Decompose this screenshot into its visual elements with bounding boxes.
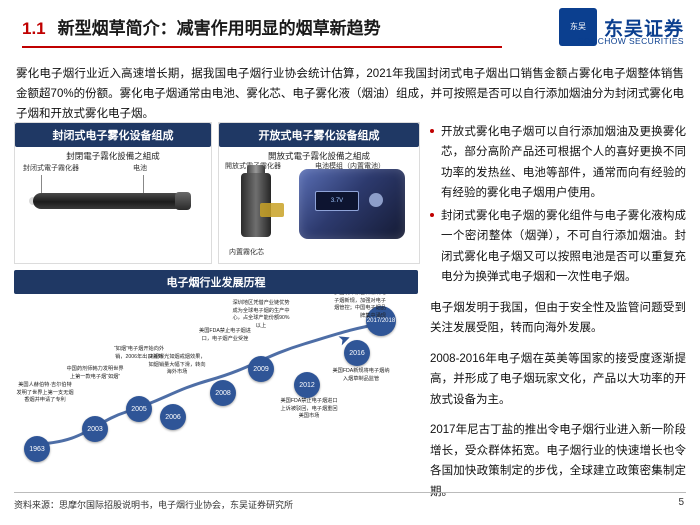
- title-row: 1.1 新型烟草简介：减害作用明显的烟草新趋势: [22, 14, 381, 39]
- timeline-note-8: 多国发布禁售和限制电子烟新规，加强对电子烟管控；中国电子烟品牌集中涌现: [332, 294, 386, 320]
- timeline-note-0: 美国人赫伯特·吉尔伯特发明了世界上第一支无烟香烟并申请了专利: [16, 382, 74, 405]
- open-device-coil-icon: [260, 203, 284, 217]
- closed-system-subtitle: 封閉電子霧化設備之組成: [15, 150, 211, 162]
- timeline-node-1: 2003: [82, 416, 108, 442]
- timeline-note-4: 美国FDA禁止电子烟进口，电子烟产业受挫: [196, 328, 254, 343]
- list-item: 开放式雾化电子烟可以自行添加烟油及更换雾化芯，部分高阶产品还可根据个人的喜好更换…: [430, 122, 686, 204]
- footer-divider: [14, 492, 686, 493]
- right-paragraph-1: 电子烟发明于我国，但由于安全性及监管问题受到关注发展受阻，转而向海外发展。: [430, 298, 686, 339]
- open-device-box-mod: 3.7V: [299, 169, 405, 239]
- open-device-fire-button: [369, 193, 383, 207]
- title-underline: [22, 46, 502, 48]
- right-paragraph-2: 2008-2016年电子烟在英美等国家的接受度逐渐提高，并形成了电子烟玩家文化，…: [430, 349, 686, 410]
- timeline-chart: 1963 美国人赫伯特·吉尔伯特发明了世界上第一支无烟香烟并申请了专利 2003…: [14, 294, 418, 472]
- right-paragraph-3: 2017年尼古丁盐的推出令电子烟行业进入新一阶段增长，受众群体拓宽。电子烟行业的…: [430, 420, 686, 502]
- timeline-node-6: 2012: [294, 372, 320, 398]
- right-column: 开放式雾化电子烟可以自行添加烟油及更换雾化芯，部分高阶产品还可根据个人的喜好更换…: [430, 122, 686, 502]
- page-header: 1.1 新型烟草简介：减害作用明显的烟草新趋势 东吴 东吴证券 SOOCHOW …: [0, 0, 700, 56]
- timeline-node-5: 2009: [248, 356, 274, 382]
- list-item: 封闭式雾化电子烟的雾化组件与电子雾化液构成一个密闭整体（烟弹），不可自行添加烟油…: [430, 206, 686, 288]
- section-number: 1.1: [22, 19, 46, 39]
- page-number: 5: [678, 497, 684, 508]
- left-column: 封闭式电子雾化设备组成 封閉電子霧化設備之組成 封闭式電子霧化器 电池 开放式电…: [14, 122, 418, 472]
- timeline-note-1: 中国药剂师韩力发明世界上第一款电子烟“如烟”: [66, 366, 124, 381]
- closed-device-illustration: [23, 167, 203, 239]
- open-system-title: 开放式电子雾化设备组成: [219, 123, 419, 147]
- closed-device-body: [33, 193, 183, 209]
- timeline-title: 电子烟行业发展历程: [14, 270, 418, 294]
- open-device-screen: 3.7V: [315, 191, 359, 211]
- page-title: 新型烟草简介：减害作用明显的烟草新趋势: [58, 14, 381, 39]
- intro-paragraph: 雾化电子烟行业近入高速增长期，据我国电子烟行业协会统计估算，2021年我国封闭式…: [16, 64, 684, 124]
- open-device-illustration: 3.7V: [225, 165, 413, 245]
- closed-system-title: 封闭式电子雾化设备组成: [15, 123, 211, 147]
- timeline-node-4: 2008: [210, 380, 236, 406]
- open-coil-label: 内置霧化芯: [229, 247, 264, 257]
- source-note: 资料来源：思摩尔国际招股说明书，电子烟行业协会，东吴证券研究所: [14, 498, 293, 511]
- timeline-node-2: 2005: [126, 396, 152, 422]
- open-device-atomizer: [241, 173, 271, 237]
- timeline-node-3: 2006: [160, 404, 186, 430]
- right-bullet-list: 开放式雾化电子烟可以自行添加烟油及更换雾化芯，部分高阶产品还可根据个人的喜好更换…: [430, 122, 686, 288]
- closed-system-panel: 封闭式电子雾化设备组成 封閉電子霧化設備之組成 封闭式電子霧化器 电池: [14, 122, 212, 264]
- timeline-note-7: 美国FDA新规将电子烟纳入烟草制品监管: [332, 368, 390, 383]
- timeline-node-0: 1963: [24, 436, 50, 462]
- open-system-panel: 开放式电子雾化设备组成 開放式電子霧化設備之組成 開放式電子霧化器 电池模组（内…: [218, 122, 420, 264]
- closed-device-mouthpiece: [175, 192, 191, 210]
- timeline-note-3: 央视曝光如烟戒烟效果，如烟销量大幅下滑，转向海外市场: [148, 354, 206, 377]
- logo-company-name-en: SOOCHOW SECURITIES: [578, 36, 684, 46]
- timeline-note-5: 深圳地区凭借产业链优势成为全球电子烟的生产中心，占全球产能份额90%以上: [232, 300, 290, 330]
- timeline-note-6: 美国FDA禁止电子烟进口上诉被驳回，电子烟重回美国市场: [280, 398, 338, 421]
